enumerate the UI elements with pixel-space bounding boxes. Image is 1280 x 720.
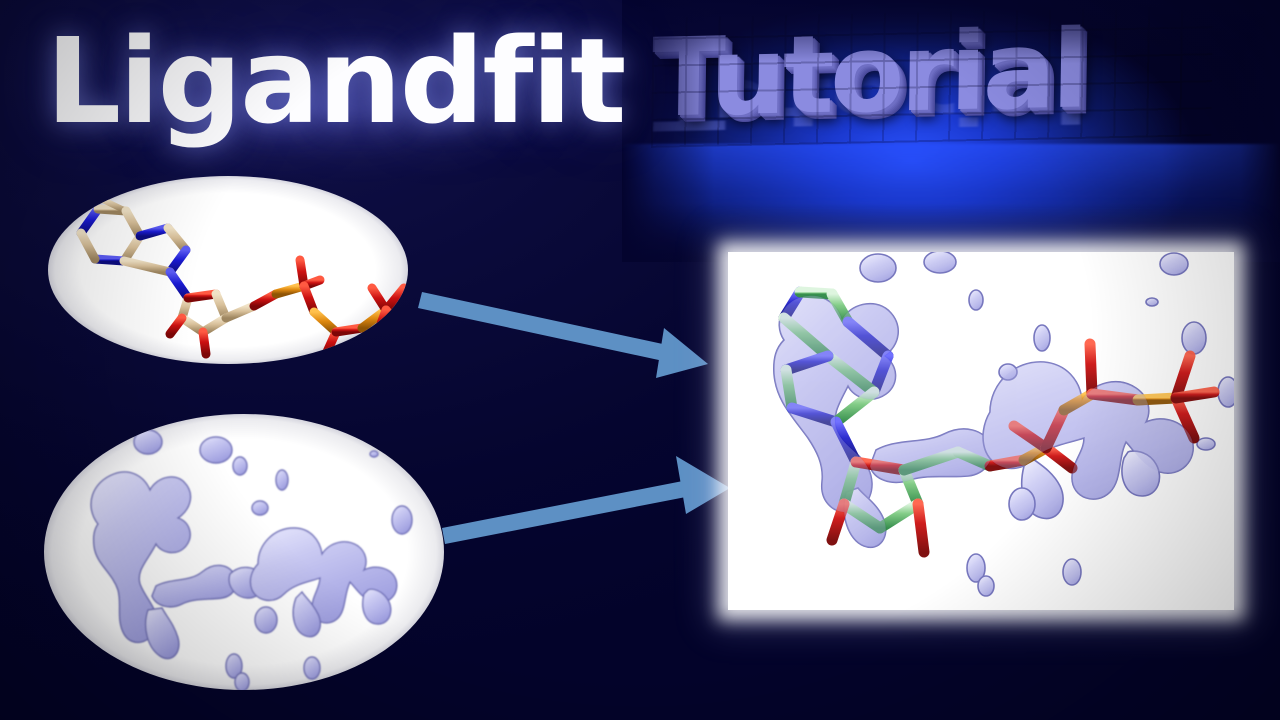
slide-vignette bbox=[0, 0, 1280, 720]
slide-root: Tutorial Tutorial Ligandfit bbox=[0, 0, 1280, 720]
